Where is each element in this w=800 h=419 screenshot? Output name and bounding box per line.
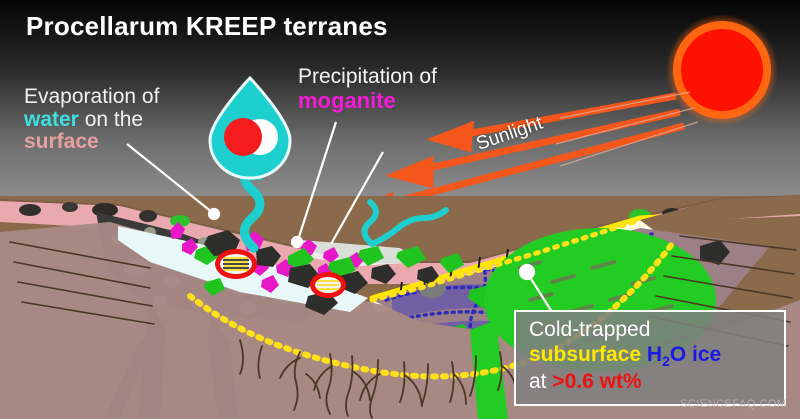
cold-trap-callout: Cold-trapped subsurface H2O ice at >0.6 … — [514, 310, 786, 406]
evaporation-line-1: Evaporation of — [24, 86, 159, 109]
evaporation-label: Evaporation of water on the surface — [24, 86, 159, 154]
subsurface-keyword: subsurface — [529, 343, 641, 366]
h2o-formula: H2O — [647, 343, 686, 366]
callout-line-1: Cold-trapped — [529, 318, 784, 342]
ice-keyword: ice — [692, 343, 721, 366]
moganite-grain-marker — [215, 249, 257, 279]
callout-at: at — [529, 370, 547, 393]
moganite-keyword: moganite — [298, 89, 437, 113]
ice-concentration-value: >0.6 wt% — [552, 370, 641, 393]
figure-canvas: Procellarum KREEP terranes Evaporation o… — [0, 0, 800, 419]
h2o-subscript: 2 — [662, 353, 670, 369]
precipitation-label: Precipitation of moganite — [298, 66, 437, 112]
watermark: SCIENCEFAQ.COM — [680, 399, 787, 411]
surface-keyword: surface — [24, 131, 159, 154]
water-keyword: water — [24, 108, 79, 131]
callout-line-2: subsurface H2O ice — [529, 343, 784, 369]
sun-icon — [666, 14, 778, 126]
moganite-grain-marker — [310, 272, 346, 298]
h2o-o: O — [670, 343, 686, 366]
evaporation-line-2-rest: on the — [79, 108, 143, 131]
page-title: Procellarum KREEP terranes — [26, 12, 388, 40]
h2o-h: H — [647, 343, 662, 366]
evaporation-line-2: water on the — [24, 109, 159, 132]
callout-line-3: at >0.6 wt% — [529, 370, 784, 394]
precipitation-line-1: Precipitation of — [298, 66, 437, 89]
